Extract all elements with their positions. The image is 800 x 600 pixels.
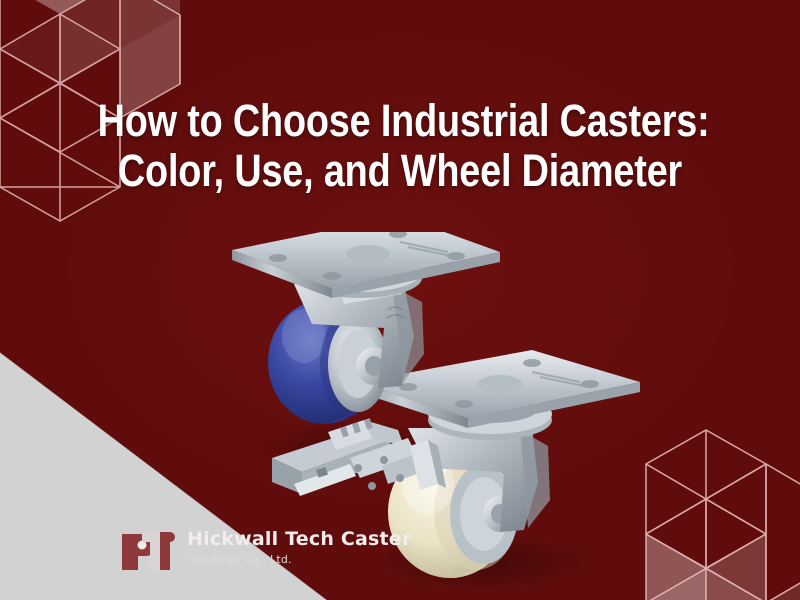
logo-company-suffix: Industrial Co., Ltd. bbox=[187, 554, 411, 565]
banner-root: How to Choose Industrial Casters: Color,… bbox=[0, 0, 800, 600]
headline-line-2: Color, Use, and Wheel Diameter bbox=[98, 146, 703, 196]
headline-line-1: How to Choose Industrial Casters: bbox=[98, 96, 703, 146]
headline: How to Choose Industrial Casters: Color,… bbox=[0, 96, 800, 196]
logo-text-block: Hickwall Tech Caster Industrial Co., Ltd… bbox=[187, 530, 411, 565]
top-plate-blue bbox=[232, 232, 500, 298]
logo-ht-monogram-icon bbox=[120, 524, 175, 570]
logo-company-name: Hickwall Tech Caster bbox=[187, 530, 411, 549]
brand-logo[interactable]: Hickwall Tech Caster Industrial Co., Ltd… bbox=[120, 524, 411, 570]
